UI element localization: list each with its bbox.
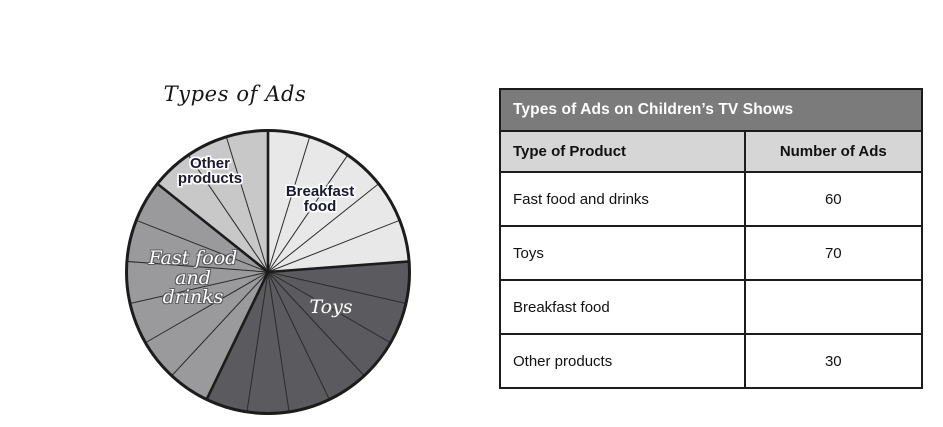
- table-title-row: Types of Ads on Children’s TV Shows: [501, 90, 921, 131]
- pie-chart-graphic: [124, 128, 412, 416]
- pie-slice-breakfast-food: [268, 131, 409, 273]
- pie-chart-panel: Types of Ads Other products Breakfast fo…: [0, 0, 470, 427]
- ads-data-table: Types of Ads on Children’s TV Shows Type…: [501, 90, 921, 387]
- table-body: Fast food and drinks60Toys70Breakfast fo…: [501, 172, 921, 387]
- table-column-header-row: Type of Product Number of Ads: [501, 131, 921, 172]
- cell-product-name: Fast food and drinks: [501, 172, 745, 226]
- worksheet-figure: Types of Ads Other products Breakfast fo…: [0, 0, 943, 427]
- table-row: Breakfast food: [501, 280, 921, 334]
- table-row: Fast food and drinks60: [501, 172, 921, 226]
- cell-product-name: Other products: [501, 334, 745, 387]
- pie-chart-title: Types of Ads: [0, 82, 470, 106]
- table-title: Types of Ads on Children’s TV Shows: [501, 90, 921, 131]
- data-table-panel: Types of Ads on Children’s TV Shows Type…: [499, 88, 923, 389]
- cell-number-of-ads: 60: [745, 172, 921, 226]
- pie-svg: [124, 128, 412, 416]
- cell-product-name: Toys: [501, 226, 745, 280]
- cell-product-name: Breakfast food: [501, 280, 745, 334]
- cell-number-of-ads: 70: [745, 226, 921, 280]
- cell-number-of-ads: 30: [745, 334, 921, 387]
- cell-number-of-ads: [745, 280, 921, 334]
- column-header-number-of-ads: Number of Ads: [745, 131, 921, 172]
- table-row: Toys70: [501, 226, 921, 280]
- column-header-type-of-product: Type of Product: [501, 131, 745, 172]
- table-row: Other products30: [501, 334, 921, 387]
